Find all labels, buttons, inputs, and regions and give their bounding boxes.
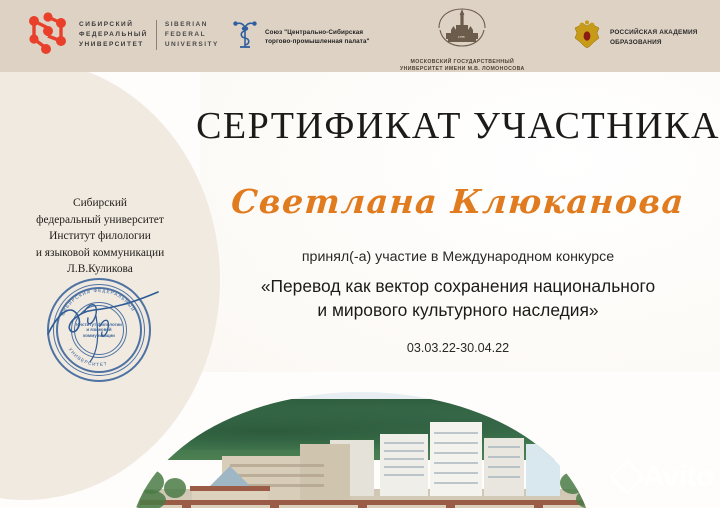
logo-rao: РОССИЙСКАЯ АКАДЕМИЯ ОБРАЗОВАНИЯ bbox=[572, 20, 698, 55]
recipient-name: Светлана Клюканова bbox=[195, 182, 720, 221]
left-line-1: Сибирский bbox=[0, 195, 200, 212]
participation-text: принял(-а) участие в Международном конку… bbox=[196, 249, 720, 265]
competition-name-line1: «Перевод как вектор сохранения националь… bbox=[196, 274, 720, 298]
left-panel: Сибирский федеральный университет Инстит… bbox=[0, 195, 200, 278]
caduceus-icon bbox=[232, 20, 258, 55]
cci-line1: Союз "Центрально-Сибирская bbox=[265, 29, 370, 38]
page-title: СЕРТИФИКАТ УЧАСТНИКА bbox=[196, 104, 720, 148]
sfu-ru-line1: СИБИРСКИЙ bbox=[79, 20, 148, 30]
sfu-logo-text: СИБИРСКИЙ ФЕДЕРАЛЬНЫЙ УНИВЕРСИТЕТ SIBERI… bbox=[79, 20, 219, 50]
left-line-3: Институт филологии bbox=[0, 228, 200, 245]
left-line-4: и языковой коммуникации bbox=[0, 245, 200, 262]
cci-line2: торгово-промышленная палата" bbox=[265, 38, 370, 47]
msu-line1: МОСКОВСКИЙ ГОСУДАРСТВЕННЫЙ bbox=[400, 59, 525, 66]
sfu-ru-line2: ФЕДЕРАЛЬНЫЙ bbox=[79, 30, 148, 40]
logo-msu: 1755 МОСКОВСКИЙ ГОСУДАРСТВЕННЫЙ УНИВЕРСИ… bbox=[400, 6, 525, 73]
sfu-en-line3: UNIVERSITY bbox=[165, 40, 219, 50]
sfu-en-line1: SIBERIAN bbox=[165, 20, 219, 30]
sfu-logo-divider bbox=[156, 20, 157, 50]
msu-logo-text: МОСКОВСКИЙ ГОСУДАРСТВЕННЫЙ УНИВЕРСИТЕТ И… bbox=[400, 59, 525, 73]
stamp-center-text: Институт филологии и языковой коммуникац… bbox=[73, 304, 125, 356]
rao-line1: РОССИЙСКАЯ АКАДЕМИЯ bbox=[610, 28, 698, 38]
official-stamp: СИБИРСКИЙ ФЕДЕРАЛЬНЫЙ УНИВЕРСИТЕТ Инстит… bbox=[47, 278, 151, 382]
msu-line2: УНИВЕРСИТЕТ ИМЕНИ М.В. ЛОМОНОСОВА bbox=[400, 66, 525, 73]
campus-photo bbox=[130, 392, 592, 508]
sfu-ru-line3: УНИВЕРСИТЕТ bbox=[79, 40, 148, 50]
cci-logo-text: Союз "Центрально-Сибирская торгово-промы… bbox=[265, 29, 370, 46]
avito-logo-icon bbox=[608, 459, 645, 496]
logo-sfu: СИБИРСКИЙ ФЕДЕРАЛЬНЫЙ УНИВЕРСИТЕТ SIBERI… bbox=[26, 12, 219, 58]
certificate-page: СИБИРСКИЙ ФЕДЕРАЛЬНЫЙ УНИВЕРСИТЕТ SIBERI… bbox=[0, 0, 720, 508]
russian-eagle-icon bbox=[572, 20, 602, 55]
certificate-main-content: СЕРТИФИКАТ УЧАСТНИКА Светлана Клюканова … bbox=[196, 82, 720, 355]
competition-name-line2: и мирового культурного наследия» bbox=[196, 298, 720, 322]
rao-logo-text: РОССИЙСКАЯ АКАДЕМИЯ ОБРАЗОВАНИЯ bbox=[610, 28, 698, 47]
left-line-2: федеральный университет bbox=[0, 212, 200, 229]
msu-tower-icon: 1755 bbox=[432, 6, 492, 57]
rao-line2: ОБРАЗОВАНИЯ bbox=[610, 38, 698, 48]
signatory-name: Л.В.Куликова bbox=[0, 261, 200, 278]
header-band: СИБИРСКИЙ ФЕДЕРАЛЬНЫЙ УНИВЕРСИТЕТ SIBERI… bbox=[0, 0, 720, 72]
logo-chamber-of-commerce: Союз "Центрально-Сибирская торгово-промы… bbox=[232, 20, 370, 55]
date-range: 03.03.22-30.04.22 bbox=[196, 341, 720, 355]
avito-watermark: Avito bbox=[614, 460, 714, 494]
sfu-en-line2: FEDERAL bbox=[165, 30, 219, 40]
svg-text:1755: 1755 bbox=[458, 35, 465, 39]
sfu-molecule-logo-icon bbox=[26, 12, 70, 58]
avito-watermark-text: Avito bbox=[643, 460, 714, 494]
